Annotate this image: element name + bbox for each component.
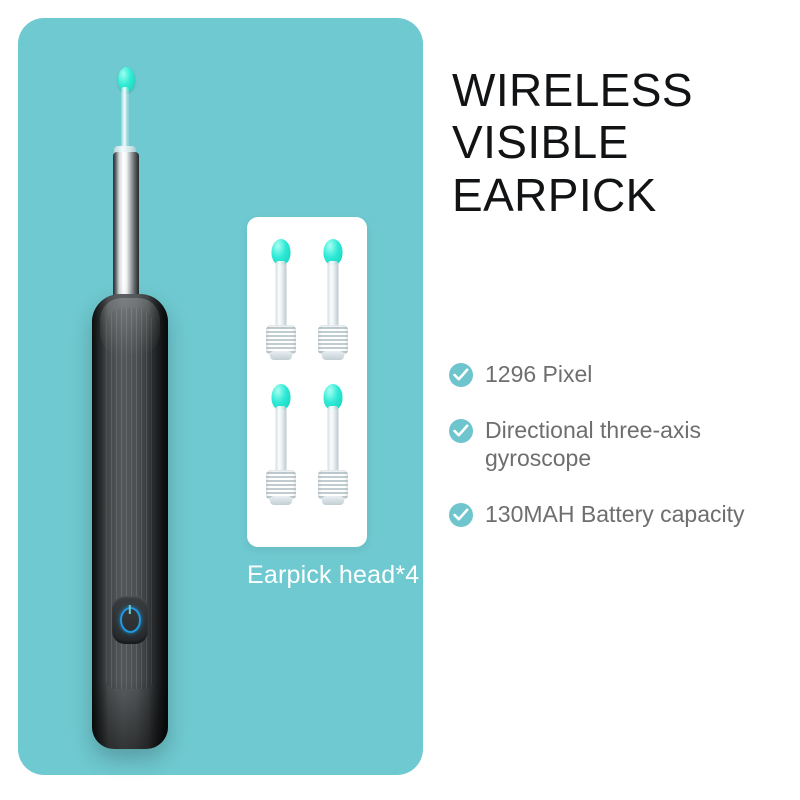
earpick-head-item [312,239,354,367]
feature-label: Directional three-axis gyroscope [485,416,789,472]
device-handle [92,294,168,749]
page-title: WIRELESS VISIBLE EARPICK [452,64,782,221]
headline-line-1: WIRELESS [452,64,782,116]
check-circle-icon [449,419,473,443]
earpick-head-base [266,325,296,355]
earpick-head-shaft [328,406,339,476]
handle-bottom-shadow [92,679,168,749]
headline-line-2: VISIBLE [452,116,782,168]
headline-line-3: EARPICK [452,169,782,221]
accessory-card [247,217,367,547]
chrome-probe-body [113,152,139,310]
feature-label: 130MAH Battery capacity [485,500,745,528]
earpick-head-base [318,325,348,355]
earpick-head-item [260,384,302,512]
earpick-head-shaft [276,406,287,476]
earpick-head-shaft [276,261,287,331]
check-circle-icon [449,363,473,387]
feature-item: Directional three-axis gyroscope [449,416,789,472]
power-icon [120,607,141,633]
accessory-caption: Earpick head*4 [247,561,367,590]
check-circle-icon [449,503,473,527]
product-hero-panel: Earpick head*4 [18,18,423,775]
earpick-head-shaft [328,261,339,331]
product-marketing-image: Earpick head*4 WIRELESS VISIBLE EARPICK … [0,0,800,800]
feature-label: 1296 Pixel [485,360,592,388]
earpick-head-base [266,470,296,500]
earpick-head-base [318,470,348,500]
earpick-head-grid [247,217,367,547]
earpick-head-item [260,239,302,367]
feature-list: 1296 Pixel Directional three-axis gyrosc… [449,360,789,556]
feature-item: 130MAH Battery capacity [449,500,789,528]
earpick-head-item [312,384,354,512]
feature-item: 1296 Pixel [449,360,789,388]
power-button[interactable] [112,596,148,644]
